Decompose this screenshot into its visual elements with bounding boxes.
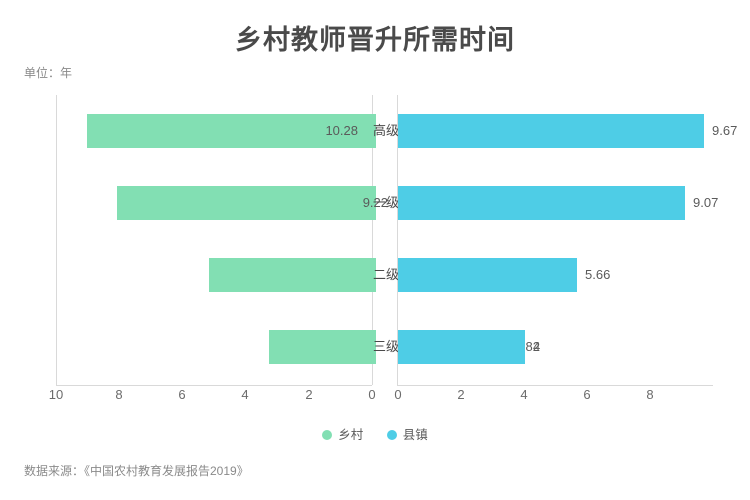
axis-tick: 6: [583, 387, 590, 402]
legend-item-county-town[interactable]: 县镇: [387, 424, 428, 443]
axis-tick: 8: [646, 387, 653, 402]
bar-right: [398, 186, 685, 220]
bar-right: [398, 114, 704, 148]
bar-right: [398, 330, 525, 364]
bar-value-left: 10.28: [238, 114, 358, 148]
bar-value-right: 9.07: [693, 186, 750, 220]
axis-tick: 6: [178, 387, 185, 402]
bar-right: [398, 258, 577, 292]
bar-value-right: 9.67: [712, 114, 750, 148]
bar-value-right: 5.66: [585, 258, 705, 292]
axis-tick: 0: [394, 387, 401, 402]
bar-value-right: 4: [533, 330, 653, 364]
chart-row: 3.82 三级 4: [24, 311, 724, 383]
legend-label: 县镇: [403, 428, 428, 442]
chart-source: 数据来源：《中国农村教育发展报告2019》: [24, 462, 249, 479]
left-axis-baseline: [56, 385, 372, 386]
category-label: 一级: [373, 186, 397, 220]
legend-label: 乡村: [338, 428, 363, 442]
category-label: 高级: [373, 114, 397, 148]
axis-tick: 10: [49, 387, 63, 402]
chart-row: 9.22 一级 9.07: [24, 167, 724, 239]
category-label: 二级: [373, 258, 397, 292]
axis-tick: 8: [115, 387, 122, 402]
bar-value-left: 9.22: [268, 186, 388, 220]
axis-tick: 4: [520, 387, 527, 402]
axis-tick: 2: [457, 387, 464, 402]
axis-tick: 0: [368, 387, 375, 402]
axis-tick: 4: [241, 387, 248, 402]
legend-dot-icon: [387, 430, 397, 440]
chart-legend: 乡村 县镇: [0, 424, 750, 443]
chart-row: 5.93 二级 5.66: [24, 239, 724, 311]
bar-left: [269, 330, 376, 364]
legend-item-rural[interactable]: 乡村: [322, 424, 363, 443]
chart-title: 乡村教师晋升所需时间: [0, 18, 750, 57]
chart-plot-area: 10.28 高级 9.67 9.22 一级 9.07 5.93 二级 5.66 …: [24, 95, 724, 390]
legend-dot-icon: [322, 430, 332, 440]
chart-row: 10.28 高级 9.67: [24, 95, 724, 167]
right-axis-baseline: [397, 385, 713, 386]
category-label: 三级: [373, 330, 397, 364]
bar-left: [209, 258, 376, 292]
unit-label: 单位：年: [24, 64, 72, 81]
axis-tick: 2: [305, 387, 312, 402]
